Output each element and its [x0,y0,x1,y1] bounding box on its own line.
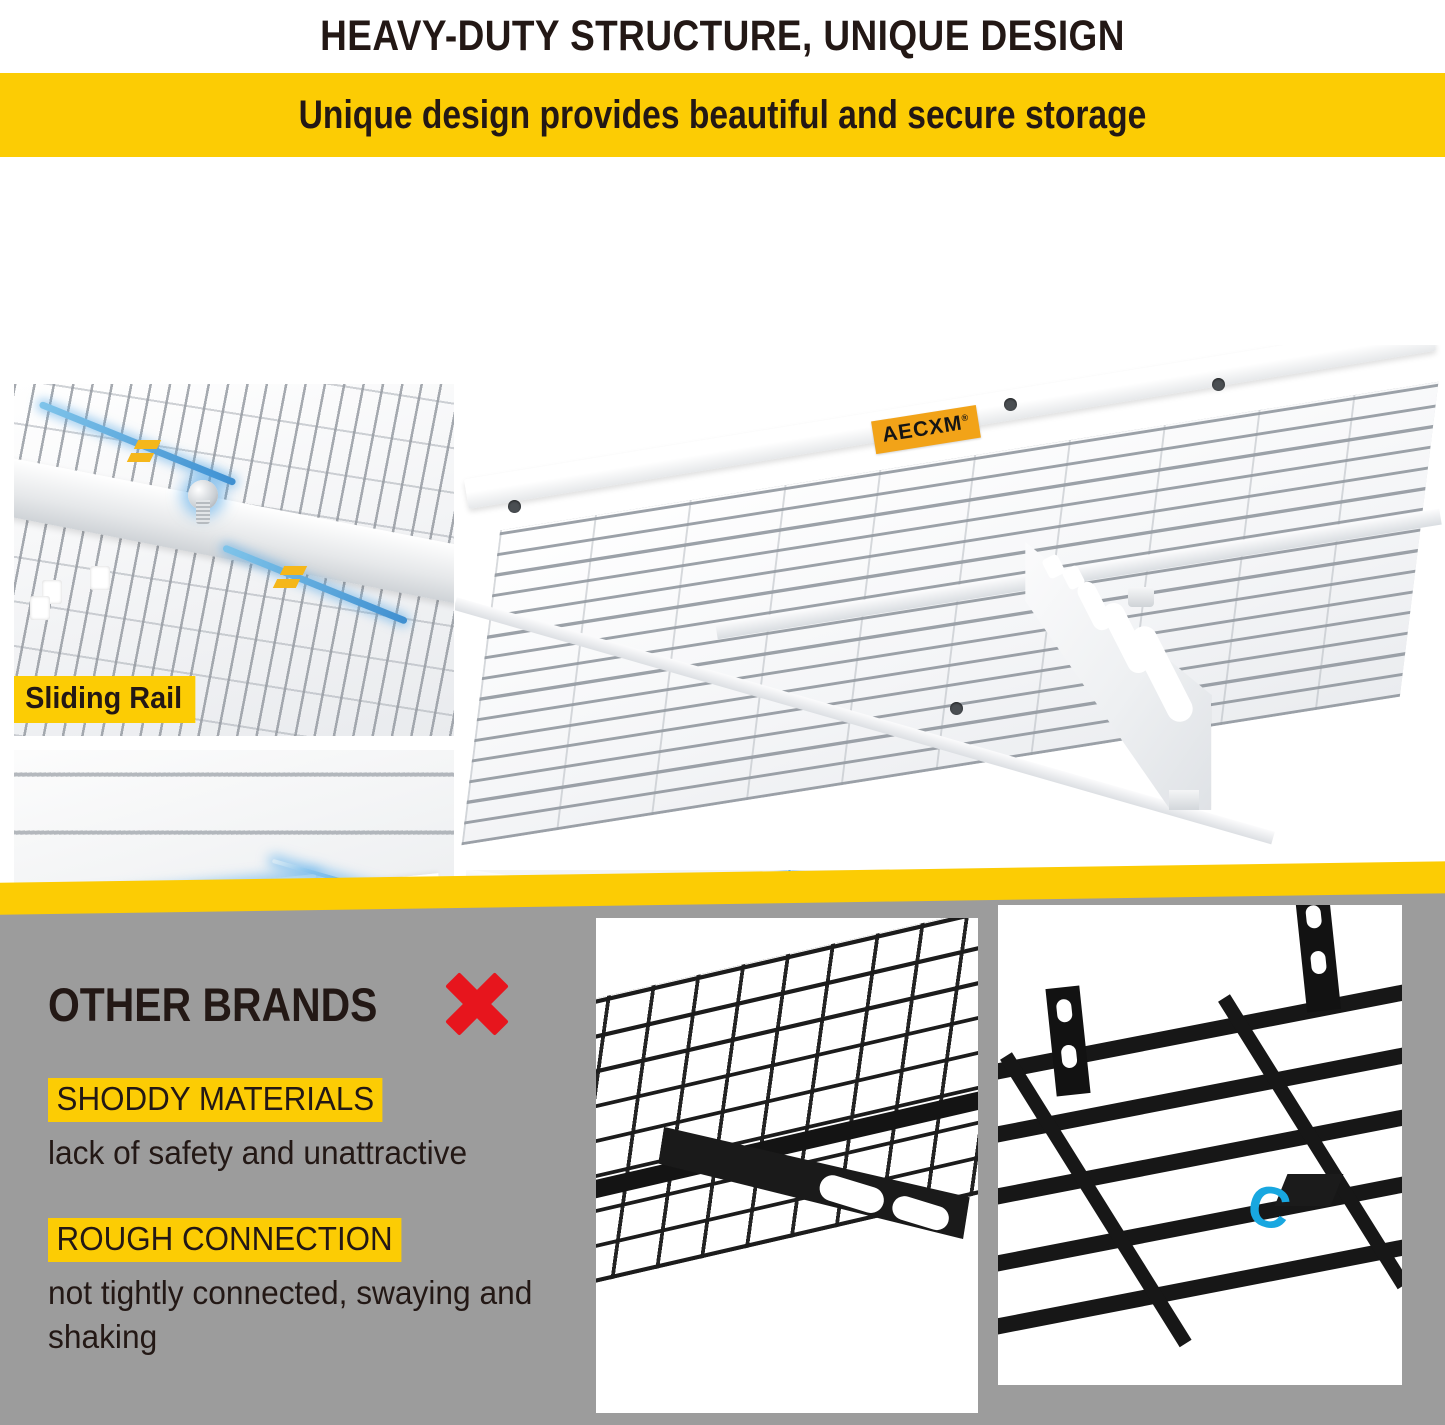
loose-connection-marker-icon: C [1243,1175,1296,1240]
bracket-web-plate [1025,542,1211,810]
panel-competitor-black-frame: C [998,905,1402,1385]
mount-hole-1 [508,500,521,513]
bullet-rough-connection: ROUGH CONNECTION not tightly connected, … [48,1218,593,1358]
bracket-foot [1169,790,1199,810]
other-brands-heading-group: OTHER BRANDS [48,968,513,1040]
sliding-rail-callout-label: Sliding Rail [14,676,195,723]
other-brands-heading: OTHER BRANDS [48,977,377,1032]
top-photo-board: Sliding Rail [0,170,1445,885]
bullet-shoddy-materials: SHODDY MATERIALS lack of safety and unat… [48,1078,485,1175]
mount-hole-4 [950,702,963,715]
tab-slot-2 [90,566,110,590]
white-support-bracket [1019,534,1239,834]
shelf-wire-deck [461,381,1438,844]
bullet-1-highlight: SHODDY MATERIALS [48,1078,383,1122]
tab-slot-3 [30,596,50,620]
red-x-icon [441,968,513,1040]
bullet-2-highlight: ROUGH CONNECTION [48,1218,401,1262]
rail-bolt-icon [188,480,218,510]
infographic-page: HEAVY-DUTY STRUCTURE, UNIQUE DESIGN Uniq… [0,0,1445,1425]
bullet-1-description: lack of safety and unattractive [48,1131,467,1175]
wall-bracket-left [1045,985,1090,1096]
page-title: HEAVY-DUTY STRUCTURE, UNIQUE DESIGN [101,0,1344,72]
panel-competitor-wire-mesh [596,918,978,1413]
trademark-icon: ® [961,412,970,423]
bullet-2-description: not tightly connected, swaying and shaki… [48,1271,571,1358]
wall-bracket-right [1295,905,1341,1013]
page-subtitle: Unique design provides beautiful and sec… [116,73,1330,157]
mount-hole-3 [1212,378,1225,391]
mount-hole-2 [1004,398,1017,411]
